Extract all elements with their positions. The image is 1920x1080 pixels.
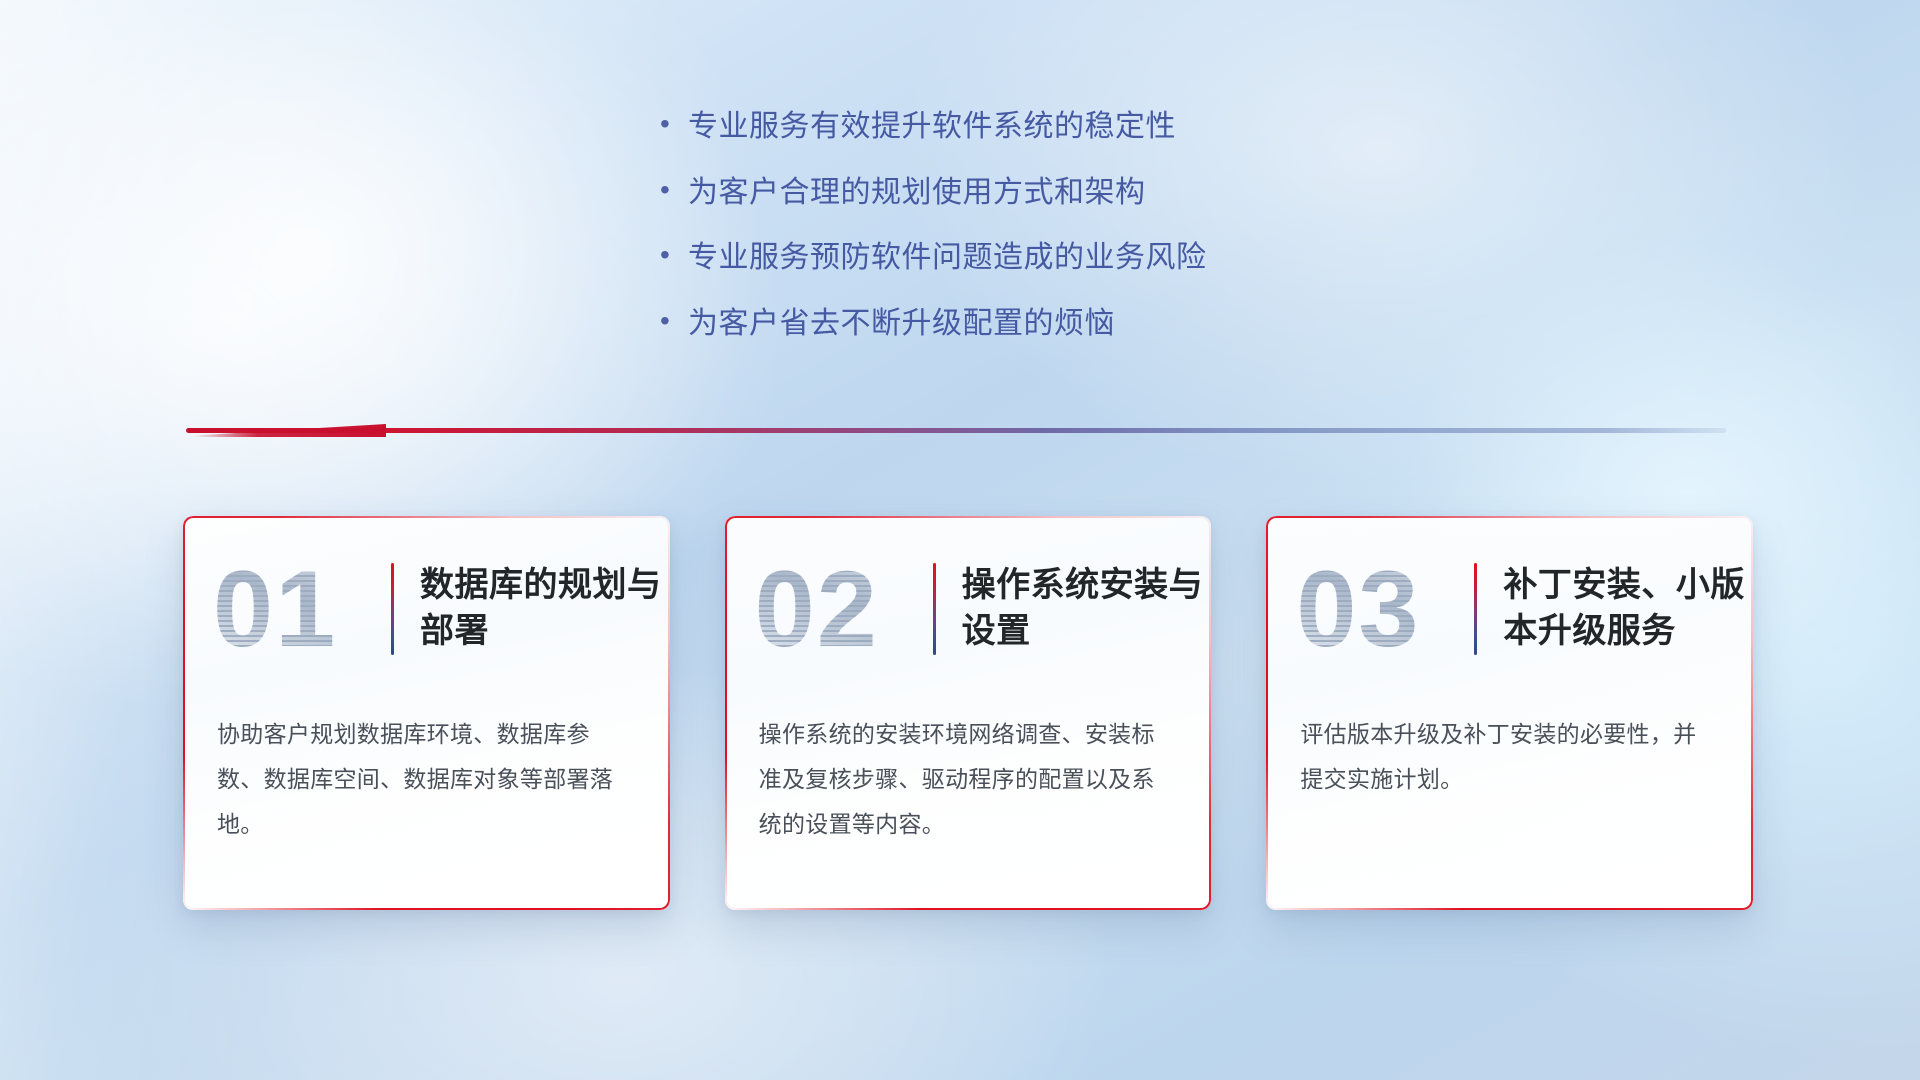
- card-header: 02 操作系统安装与设置: [725, 516, 1212, 702]
- benefits-bullet-list: • 专业服务有效提升软件系统的稳定性 • 为客户合理的规划使用方式和架构 • 专…: [660, 108, 1560, 370]
- card-body-02: 操作系统的安装环境网络调查、安装标准及复核步骤、驱动程序的配置以及系统的设置等内…: [725, 702, 1212, 847]
- card-title-02: 操作系统安装与设置: [962, 563, 1212, 654]
- list-item: • 专业服务有效提升软件系统的稳定性: [660, 108, 1560, 146]
- slide-root: • 专业服务有效提升软件系统的稳定性 • 为客户合理的规划使用方式和架构 • 专…: [0, 0, 1920, 1080]
- bullet-text-4: 为客户省去不断升级配置的烦恼: [688, 305, 1115, 343]
- card-body-03: 评估版本升级及补丁安装的必要性，并提交实施计划。: [1266, 702, 1753, 802]
- bullet-dot-icon: •: [660, 307, 688, 335]
- card-title-01: 数据库的规划与部署: [420, 563, 670, 654]
- service-card-02[interactable]: 02 操作系统安装与设置 操作系统的安装环境网络调查、安装标准及复核步骤、驱动程…: [725, 516, 1212, 910]
- service-card-01[interactable]: 01 数据库的规划与部署 协助客户规划数据库环境、数据库参数、数据库空间、数据库…: [183, 516, 670, 910]
- bullet-text-1: 专业服务有效提升软件系统的稳定性: [688, 108, 1176, 146]
- list-item: • 专业服务预防软件问题造成的业务风险: [660, 239, 1560, 277]
- card-divider-rule: [933, 563, 936, 655]
- bullet-dot-icon: •: [660, 110, 688, 138]
- service-card-03[interactable]: 03 补丁安装、小版本升级服务 评估版本升级及补丁安装的必要性，并提交实施计划。: [1266, 516, 1753, 910]
- service-card-group: 01 数据库的规划与部署 协助客户规划数据库环境、数据库参数、数据库空间、数据库…: [183, 516, 1753, 910]
- card-header: 01 数据库的规划与部署: [183, 516, 670, 702]
- card-divider-rule: [391, 563, 394, 655]
- bullet-dot-icon: •: [660, 176, 688, 204]
- card-number-01: 01: [213, 555, 391, 663]
- card-body-01: 协助客户规划数据库环境、数据库参数、数据库空间、数据库对象等部署落地。: [183, 702, 670, 847]
- card-number-03: 03: [1296, 555, 1474, 663]
- card-divider-rule: [1474, 563, 1477, 655]
- section-divider: [186, 424, 1726, 440]
- card-header: 03 补丁安装、小版本升级服务: [1266, 516, 1753, 702]
- card-title-03: 补丁安装、小版本升级服务: [1503, 563, 1753, 654]
- bullet-text-3: 专业服务预防软件问题造成的业务风险: [688, 239, 1207, 277]
- bullet-text-2: 为客户合理的规划使用方式和架构: [688, 174, 1146, 212]
- divider-gradient-line: [186, 428, 1726, 433]
- list-item: • 为客户省去不断升级配置的烦恼: [660, 305, 1560, 343]
- list-item: • 为客户合理的规划使用方式和架构: [660, 174, 1560, 212]
- bullet-dot-icon: •: [660, 241, 688, 269]
- card-number-02: 02: [755, 555, 933, 663]
